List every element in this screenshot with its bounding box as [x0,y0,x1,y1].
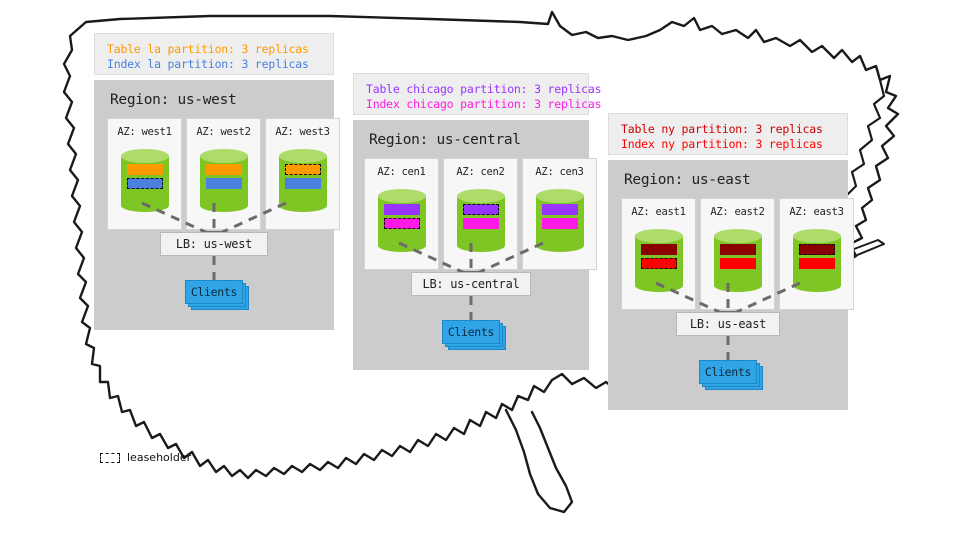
region-title-us-west: Region: us-west [110,92,236,108]
florida-path [506,410,572,512]
replica-bar-index-leaseholder [384,218,420,229]
region-panel-us-east: Region: us-east AZ: east1 AZ: east2 [608,160,848,410]
load-balancer-us-central[interactable]: LB: us-central [411,272,531,296]
az-label-east3: AZ: east3 [780,206,853,218]
replica-bar-index [799,258,835,269]
az-label-cen1: AZ: cen1 [365,166,438,178]
az-label-east1: AZ: east1 [622,206,695,218]
region-panel-us-central: Region: us-central AZ: cen1 AZ: cen2 [353,120,589,370]
replica-bar-index-leaseholder [641,258,677,269]
partition-legend-us-east: Table ny partition: 3 replicas Index ny … [608,113,848,155]
az-label-west2: AZ: west2 [187,126,260,138]
clients-label: Clients [185,280,243,304]
az-label-cen3: AZ: cen3 [523,166,596,178]
clients-us-west[interactable]: Clients [185,280,243,304]
region-panel-us-west: Region: us-west AZ: west1 AZ: west2 [94,80,334,330]
replica-bar-index-leaseholder [127,178,163,189]
cylinder-top [793,229,841,243]
region-title-us-east: Region: us-east [624,172,750,188]
partition-line-index: Index chicago partition: 3 replicas [366,97,578,112]
cylinder-top [457,189,505,203]
region-title-us-central: Region: us-central [369,132,521,148]
partition-line-index: Index ny partition: 3 replicas [621,137,837,152]
cylinder-top [635,229,683,243]
load-balancer-us-east[interactable]: LB: us-east [676,312,780,336]
clients-label: Clients [699,360,757,384]
cylinder-top [279,149,327,163]
az-label-east2: AZ: east2 [701,206,774,218]
partition-line-table: Table la partition: 3 replicas [107,42,323,57]
clients-us-central[interactable]: Clients [442,320,500,344]
replica-bar-table [542,204,578,215]
partition-legend-us-west: Table la partition: 3 replicas Index la … [94,33,334,75]
cylinder-top [714,229,762,243]
replica-bar-index [285,178,321,189]
cylinder-top [121,149,169,163]
az-label-west1: AZ: west1 [108,126,181,138]
replica-bar-table [384,204,420,215]
leaseholder-key-label: leaseholder [127,451,191,464]
replica-bar-table [206,164,242,175]
replica-bar-table [127,164,163,175]
cylinder-top [536,189,584,203]
replica-bar-index [720,258,756,269]
az-label-west3: AZ: west3 [266,126,339,138]
az-label-cen2: AZ: cen2 [444,166,517,178]
partition-legend-us-central: Table chicago partition: 3 replicas Inde… [353,73,589,115]
replica-bar-table-leaseholder [285,164,321,175]
replica-bar-table-leaseholder [463,204,499,215]
clients-label: Clients [442,320,500,344]
dashed-rect-icon [100,453,120,463]
replica-bar-index [206,178,242,189]
partition-line-index: Index la partition: 3 replicas [107,57,323,72]
cylinder-top [378,189,426,203]
replica-bar-index [463,218,499,229]
replica-bar-index [542,218,578,229]
replica-bar-table [720,244,756,255]
leaseholder-key: leaseholder [100,451,191,464]
cylinder-top [200,149,248,163]
clients-us-east[interactable]: Clients [699,360,757,384]
replica-bar-table [641,244,677,255]
partition-line-table: Table chicago partition: 3 replicas [366,82,578,97]
replica-bar-table-leaseholder [799,244,835,255]
partition-line-table: Table ny partition: 3 replicas [621,122,837,137]
load-balancer-us-west[interactable]: LB: us-west [160,232,268,256]
